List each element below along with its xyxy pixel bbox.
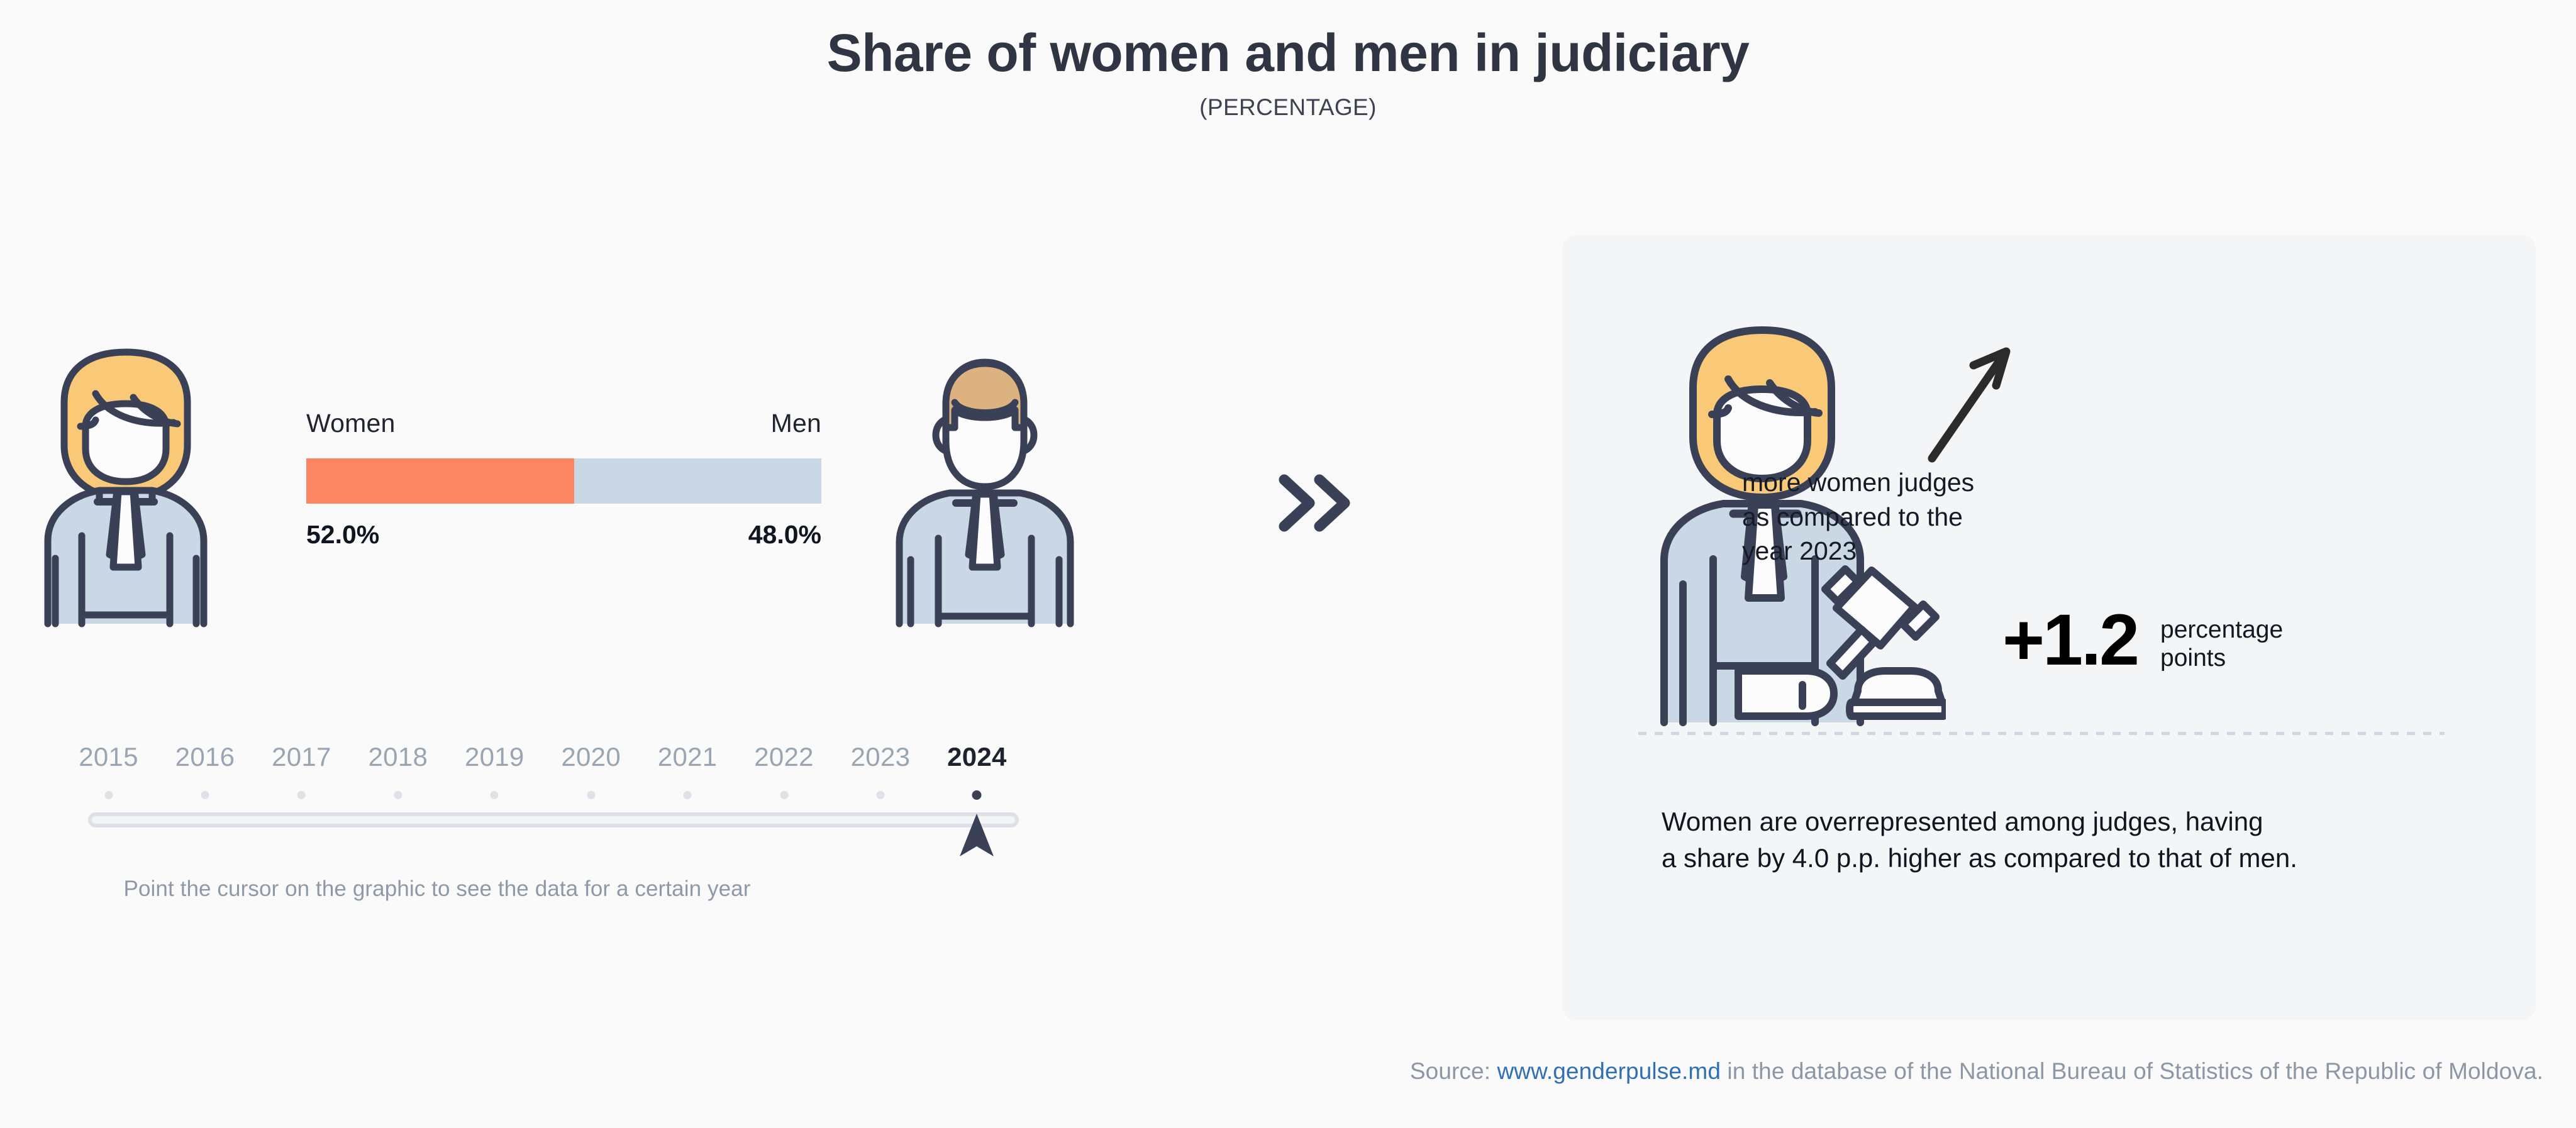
year-label-2023[interactable]: 2023 <box>851 742 911 772</box>
kpi-desc-line3: year 2023 <box>1742 534 1974 568</box>
year-dot-2023[interactable] <box>876 791 884 799</box>
page-title: Share of women and men in judiciary <box>0 25 2576 80</box>
year-label-2016[interactable]: 2016 <box>175 742 235 772</box>
bar-segment-men[interactable] <box>574 458 821 504</box>
panel-note: Women are overrepresented among judges, … <box>1662 804 2297 876</box>
year-dots[interactable] <box>88 788 1019 802</box>
year-dot-2017[interactable] <box>297 791 306 799</box>
year-dot-2015[interactable] <box>104 791 113 799</box>
trend-up-arrow-icon <box>1921 333 2028 471</box>
kpi-unit-line1: percentage <box>2160 616 2283 643</box>
year-dot-2018[interactable] <box>394 791 402 799</box>
source-footer: Source: www.genderpulse.md in the databa… <box>0 1058 2576 1085</box>
bar-endpoint-labels: Women Men <box>306 409 821 441</box>
header: Share of women and men in judiciary (PER… <box>0 25 2576 121</box>
source-suffix: in the database of the National Bureau o… <box>1721 1058 2543 1084</box>
kpi-description: more women judges as compared to the yea… <box>1742 465 1974 568</box>
year-dot-2020[interactable] <box>587 791 595 799</box>
panel-note-line2: a share by 4.0 p.p. higher as compared t… <box>1662 840 2297 876</box>
kpi-desc-line1: more women judges <box>1742 465 1974 500</box>
bar-value-women: 52.0% <box>306 520 379 550</box>
year-labels[interactable]: 2015201620172018201920202021202220232024 <box>88 742 1019 780</box>
bar-segment-women[interactable] <box>306 458 574 504</box>
panel-note-line1: Women are overrepresented among judges, … <box>1662 804 2297 840</box>
source-prefix: Source: <box>1410 1058 1497 1084</box>
insight-panel: +1.2 percentage points <box>1562 235 2536 1020</box>
page-subtitle: (PERCENTAGE) <box>0 94 2576 121</box>
slider-rail[interactable] <box>88 812 1019 827</box>
year-dot-2016[interactable] <box>201 791 209 799</box>
bar-label-men: Men <box>771 409 821 438</box>
kpi-desc-line2: as compared to the <box>1742 500 1974 534</box>
bar-label-women: Women <box>306 409 396 438</box>
year-label-2015[interactable]: 2015 <box>79 742 138 772</box>
year-dot-2022[interactable] <box>780 791 788 799</box>
kpi-block: +1.2 percentage points <box>2002 606 2283 675</box>
year-label-2017[interactable]: 2017 <box>272 742 331 772</box>
timeline-hint: Point the cursor on the graphic to see t… <box>88 876 786 902</box>
woman-judge-avatar <box>25 333 226 632</box>
source-link[interactable]: www.genderpulse.md <box>1497 1058 1721 1084</box>
year-label-2020[interactable]: 2020 <box>561 742 621 772</box>
bar-track[interactable] <box>306 458 821 504</box>
kpi-unit: percentage points <box>2160 616 2283 673</box>
year-slider[interactable] <box>88 788 1019 858</box>
bar-value-labels: 52.0% 48.0% <box>306 520 821 555</box>
kpi-unit-line2: points <box>2160 644 2226 672</box>
year-timeline[interactable]: 2015201620172018201920202021202220232024… <box>88 742 1019 902</box>
year-label-2024[interactable]: 2024 <box>947 742 1007 772</box>
year-label-2018[interactable]: 2018 <box>369 742 428 772</box>
year-dot-2021[interactable] <box>684 791 692 799</box>
year-label-2022[interactable]: 2022 <box>754 742 814 772</box>
year-label-2019[interactable]: 2019 <box>465 742 525 772</box>
kpi-value: +1.2 <box>2002 606 2138 675</box>
share-bar: Women Men 52.0% 48.0% <box>306 409 821 555</box>
slider-rail-inner <box>92 816 1015 824</box>
bar-value-men: 48.0% <box>748 520 821 550</box>
year-dot-2024[interactable] <box>972 790 982 800</box>
year-label-2021[interactable]: 2021 <box>658 742 718 772</box>
panel-divider <box>1638 732 2445 735</box>
slider-cursor-marker[interactable] <box>955 805 999 865</box>
double-chevron-right-icon <box>1270 468 1365 541</box>
infographic-root: Share of women and men in judiciary (PER… <box>0 0 2576 1128</box>
year-dot-2019[interactable] <box>491 791 499 799</box>
man-judge-avatar <box>884 333 1085 632</box>
